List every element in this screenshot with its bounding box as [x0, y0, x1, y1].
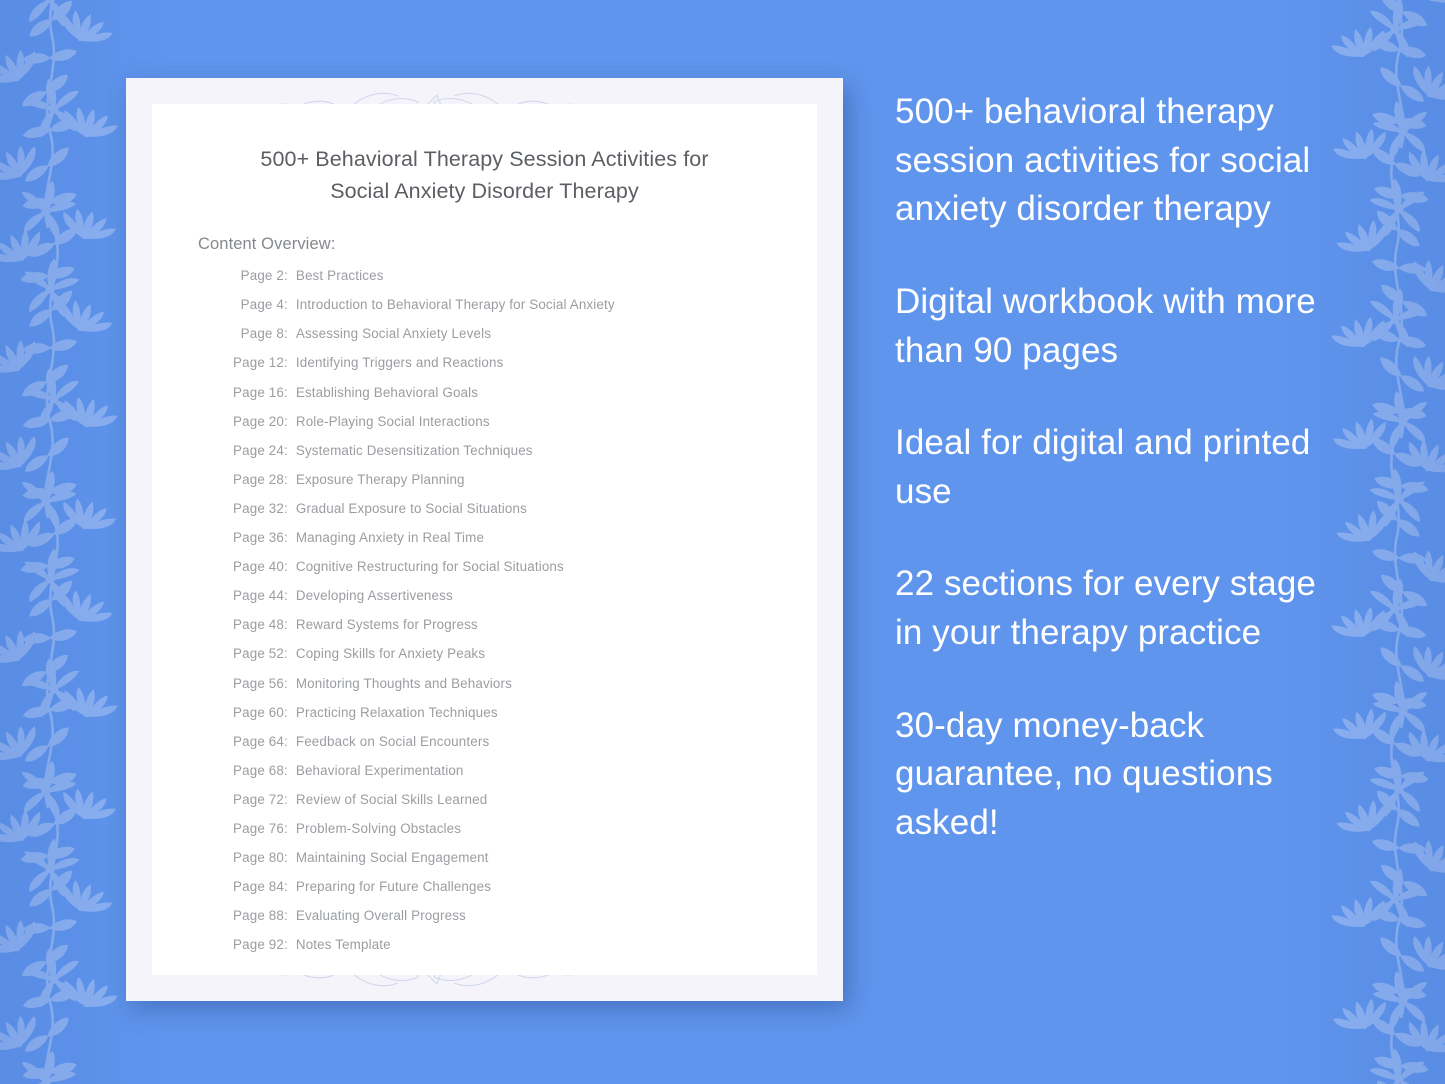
promo-paragraph: 500+ behavioral therapy session activiti…: [895, 88, 1335, 234]
toc-row[interactable]: Page 52:Coping Skills for Anxiety Peaks: [152, 646, 817, 675]
toc-page-number: Page 88: [222, 908, 284, 923]
toc-row[interactable]: Page 40:Cognitive Restructuring for Soci…: [152, 559, 817, 588]
promo-copy-column: 500+ behavioral therapy session activiti…: [895, 88, 1335, 848]
toc-page-number: Page 84: [222, 879, 284, 894]
document-page: 500+ Behavioral Therapy Session Activiti…: [152, 104, 817, 975]
toc-row[interactable]: Page 84:Preparing for Future Challenges: [152, 879, 817, 908]
toc-page-number: Page 68: [222, 763, 284, 778]
toc-entry-title: Gradual Exposure to Social Situations: [288, 501, 527, 516]
toc-row[interactable]: Page 8:Assessing Social Anxiety Levels: [152, 326, 817, 355]
toc-row[interactable]: Page 64:Feedback on Social Encounters: [152, 734, 817, 763]
toc-row[interactable]: Page 48:Reward Systems for Progress: [152, 617, 817, 646]
promo-paragraph: Digital workbook with more than 90 pages: [895, 278, 1335, 375]
toc-page-number: Page 28: [222, 472, 284, 487]
toc-page-number: Page 20: [222, 414, 284, 429]
toc-entry-title: Feedback on Social Encounters: [288, 734, 489, 749]
document-title: 500+ Behavioral Therapy Session Activiti…: [152, 104, 817, 207]
toc-entry-title: Practicing Relaxation Techniques: [288, 705, 498, 720]
toc-row[interactable]: Page 80:Maintaining Social Engagement: [152, 850, 817, 879]
toc-row[interactable]: Page 36:Managing Anxiety in Real Time: [152, 530, 817, 559]
toc-row[interactable]: Page 68:Behavioral Experimentation: [152, 763, 817, 792]
document-preview-card[interactable]: 500+ Behavioral Therapy Session Activiti…: [126, 78, 843, 1001]
toc-page-number: Page 40: [222, 559, 284, 574]
document-title-line-2: Social Anxiety Disorder Therapy: [330, 179, 639, 203]
toc-page-number: Page 52: [222, 646, 284, 661]
toc-page-number: Page 12: [222, 355, 284, 370]
toc-entry-title: Maintaining Social Engagement: [288, 850, 489, 865]
toc-entry-title: Problem-Solving Obstacles: [288, 821, 461, 836]
toc-page-number: Page 56: [222, 676, 284, 691]
promo-paragraph: 30-day money-back guarantee, no question…: [895, 702, 1335, 848]
toc-entry-title: Coping Skills for Anxiety Peaks: [288, 646, 485, 661]
toc-entry-title: Notes Template: [288, 937, 391, 952]
toc-entry-title: Reward Systems for Progress: [288, 617, 478, 632]
document-title-line-1: 500+ Behavioral Therapy Session Activiti…: [260, 147, 708, 171]
toc-entry-title: Best Practices: [288, 268, 384, 283]
toc-row[interactable]: Page 88:Evaluating Overall Progress: [152, 908, 817, 937]
table-of-contents: Page 2:Best PracticesPage 4:Introduction…: [152, 254, 817, 966]
toc-entry-title: Monitoring Thoughts and Behaviors: [288, 676, 512, 691]
toc-entry-title: Role-Playing Social Interactions: [288, 414, 490, 429]
toc-page-number: Page 4: [222, 297, 284, 312]
toc-page-number: Page 44: [222, 588, 284, 603]
toc-entry-title: Managing Anxiety in Real Time: [288, 530, 484, 545]
toc-page-number: Page 32: [222, 501, 284, 516]
toc-page-number: Page 76: [222, 821, 284, 836]
toc-entry-title: Establishing Behavioral Goals: [288, 385, 478, 400]
toc-page-number: Page 64: [222, 734, 284, 749]
toc-entry-title: Introduction to Behavioral Therapy for S…: [288, 297, 615, 312]
toc-row[interactable]: Page 2:Best Practices: [152, 268, 817, 297]
toc-row[interactable]: Page 24:Systematic Desensitization Techn…: [152, 443, 817, 472]
toc-page-number: Page 92: [222, 937, 284, 952]
toc-entry-title: Identifying Triggers and Reactions: [288, 355, 504, 370]
toc-row[interactable]: Page 12:Identifying Triggers and Reactio…: [152, 355, 817, 384]
toc-row[interactable]: Page 72:Review of Social Skills Learned: [152, 792, 817, 821]
toc-row[interactable]: Page 56:Monitoring Thoughts and Behavior…: [152, 676, 817, 705]
toc-entry-title: Review of Social Skills Learned: [288, 792, 487, 807]
toc-entry-title: Cognitive Restructuring for Social Situa…: [288, 559, 564, 574]
toc-row[interactable]: Page 16:Establishing Behavioral Goals: [152, 385, 817, 414]
toc-row[interactable]: Page 44:Developing Assertiveness: [152, 588, 817, 617]
toc-entry-title: Preparing for Future Challenges: [288, 879, 491, 894]
toc-entry-title: Exposure Therapy Planning: [288, 472, 465, 487]
toc-page-number: Page 16: [222, 385, 284, 400]
toc-row[interactable]: Page 28:Exposure Therapy Planning: [152, 472, 817, 501]
toc-entry-title: Behavioral Experimentation: [288, 763, 464, 778]
toc-page-number: Page 72: [222, 792, 284, 807]
toc-entry-title: Systematic Desensitization Techniques: [288, 443, 533, 458]
toc-page-number: Page 24: [222, 443, 284, 458]
toc-entry-title: Assessing Social Anxiety Levels: [288, 326, 491, 341]
toc-page-number: Page 48: [222, 617, 284, 632]
promo-paragraph: 22 sections for every stage in your ther…: [895, 560, 1335, 657]
toc-page-number: Page 2: [222, 268, 284, 283]
toc-row[interactable]: Page 32:Gradual Exposure to Social Situa…: [152, 501, 817, 530]
toc-row[interactable]: Page 20:Role-Playing Social Interactions: [152, 414, 817, 443]
poster-canvas: 500+ Behavioral Therapy Session Activiti…: [0, 0, 1445, 1084]
toc-entry-title: Developing Assertiveness: [288, 588, 453, 603]
toc-row[interactable]: Page 4:Introduction to Behavioral Therap…: [152, 297, 817, 326]
floral-vine-left-icon: [0, 0, 142, 1084]
toc-page-number: Page 8: [222, 326, 284, 341]
toc-page-number: Page 36: [222, 530, 284, 545]
toc-page-number: Page 60: [222, 705, 284, 720]
toc-page-number: Page 80: [222, 850, 284, 865]
promo-paragraph: Ideal for digital and printed use: [895, 419, 1335, 516]
toc-row[interactable]: Page 60:Practicing Relaxation Techniques: [152, 705, 817, 734]
toc-entry-title: Evaluating Overall Progress: [288, 908, 466, 923]
toc-row[interactable]: Page 76:Problem-Solving Obstacles: [152, 821, 817, 850]
toc-row[interactable]: Page 92:Notes Template: [152, 937, 817, 966]
content-overview-label: Content Overview:: [152, 207, 817, 254]
